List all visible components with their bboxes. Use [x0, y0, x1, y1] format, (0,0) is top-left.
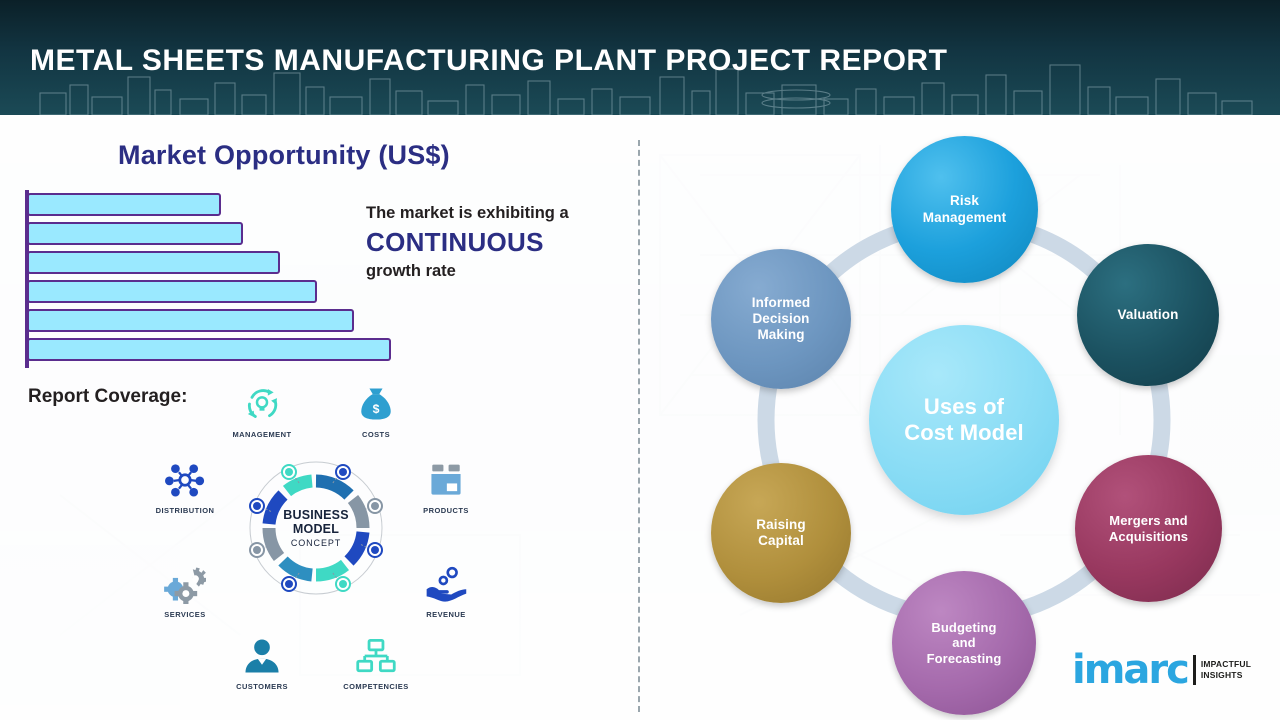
node-label-risk-2: Management — [917, 210, 1013, 226]
node-label-informed-3: Making — [746, 327, 817, 343]
table-row — [27, 222, 243, 245]
blurb-emphasis: CONTINUOUS — [366, 224, 634, 262]
slide-header: METAL SHEETS MANUFACTURING PLANT PROJECT… — [0, 0, 1280, 115]
node-risk-management[interactable]: Risk Management — [891, 136, 1038, 283]
logo-tagline-line-1: IMPACTFUL — [1201, 659, 1251, 670]
gears-icon — [131, 562, 239, 606]
business-model-diagram: BUSINESS MODEL CONCEPT — [243, 455, 389, 601]
page-title: METAL SHEETS MANUFACTURING PLANT PROJECT… — [30, 44, 947, 78]
coverage-item-competencies[interactable]: COMPETENCIES — [322, 634, 430, 691]
node-mergers-acquisitions[interactable]: Mergers and Acquisitions — [1075, 455, 1222, 602]
node-valuation[interactable]: Valuation — [1077, 244, 1219, 386]
coverage-item-customers[interactable]: CUSTOMERS — [208, 634, 316, 691]
node-label-raising-2: Capital — [750, 533, 811, 549]
users-icon — [208, 634, 316, 678]
coverage-item-distribution[interactable]: DISTRIBUTION — [131, 458, 239, 515]
coverage-item-products[interactable]: PRODUCTS — [392, 458, 500, 515]
market-opportunity-title: Market Opportunity (US$) — [118, 140, 450, 171]
blurb-line-1: The market is exhibiting a — [366, 203, 634, 224]
coverage-item-services[interactable]: SERVICES — [131, 562, 239, 619]
coverage-label-costs: COSTS — [322, 430, 430, 439]
hand-coins-icon — [392, 562, 500, 606]
money-bag-icon: $ — [322, 382, 430, 426]
coverage-label-management: MANAGEMENT — [208, 430, 316, 439]
slide-root: METAL SHEETS MANUFACTURING PLANT PROJECT… — [0, 0, 1280, 720]
node-label-risk-1: Risk — [917, 193, 1013, 209]
coverage-label-services: SERVICES — [131, 610, 239, 619]
uses-of-cost-model-diagram: Risk Management Valuation Mergers and Ac… — [638, 115, 1280, 720]
node-budgeting-forecasting[interactable]: Budgeting and Forecasting — [892, 571, 1036, 715]
package-box-icon — [392, 458, 500, 502]
logo-tagline-line-2: INSIGHTS — [1201, 670, 1251, 681]
coverage-label-distribution: DISTRIBUTION — [131, 506, 239, 515]
coverage-label-products: PRODUCTS — [392, 506, 500, 515]
table-row — [27, 193, 221, 216]
node-label-mergers-2: Acquisitions — [1103, 529, 1194, 545]
market-opportunity-bar-chart — [25, 190, 415, 368]
coverage-item-management[interactable]: MANAGEMENT — [208, 382, 316, 439]
node-center-uses-of-cost-model[interactable]: Uses of Cost Model — [869, 325, 1059, 515]
node-informed-decision-making[interactable]: Informed Decision Making — [711, 249, 851, 389]
report-coverage-label: Report Coverage: — [28, 386, 187, 408]
coverage-label-revenue: REVENUE — [392, 610, 500, 619]
node-label-mergers-1: Mergers and — [1103, 513, 1194, 529]
recycle-bulb-icon — [208, 382, 316, 426]
coverage-item-revenue[interactable]: REVENUE — [392, 562, 500, 619]
blurb-line-3: growth rate — [366, 261, 634, 282]
node-label-informed-2: Decision — [746, 311, 817, 327]
org-chart-icon — [322, 634, 430, 678]
node-label-budgeting-2: and — [921, 635, 1008, 651]
node-label-informed-1: Informed — [746, 295, 817, 311]
coverage-item-costs[interactable]: $ COSTS — [322, 382, 430, 439]
node-label-raising-1: Raising — [750, 517, 811, 533]
node-label-valuation: Valuation — [1112, 307, 1185, 323]
center-label-line-1: Uses of — [898, 394, 1030, 420]
center-label-line-2: Cost Model — [898, 420, 1030, 446]
node-label-budgeting-1: Budgeting — [921, 620, 1008, 636]
logo-wordmark: imarc — [1072, 652, 1188, 688]
table-row — [27, 309, 354, 332]
coverage-label-competencies: COMPETENCIES — [322, 682, 430, 691]
business-model-donut — [243, 455, 389, 601]
node-raising-capital[interactable]: Raising Capital — [711, 463, 851, 603]
logo-tagline: IMPACTFUL INSIGHTS — [1201, 659, 1251, 680]
coverage-label-customers: CUSTOMERS — [208, 682, 316, 691]
growth-blurb: The market is exhibiting a CONTINUOUS gr… — [366, 203, 634, 282]
svg-text:$: $ — [373, 402, 380, 416]
imarc-logo[interactable]: imarc IMPACTFUL INSIGHTS — [1072, 652, 1251, 688]
logo-divider — [1193, 655, 1196, 685]
table-row — [27, 280, 317, 303]
network-nodes-icon — [131, 458, 239, 502]
node-label-budgeting-3: Forecasting — [921, 651, 1008, 667]
table-row — [27, 251, 280, 274]
table-row — [27, 338, 391, 361]
